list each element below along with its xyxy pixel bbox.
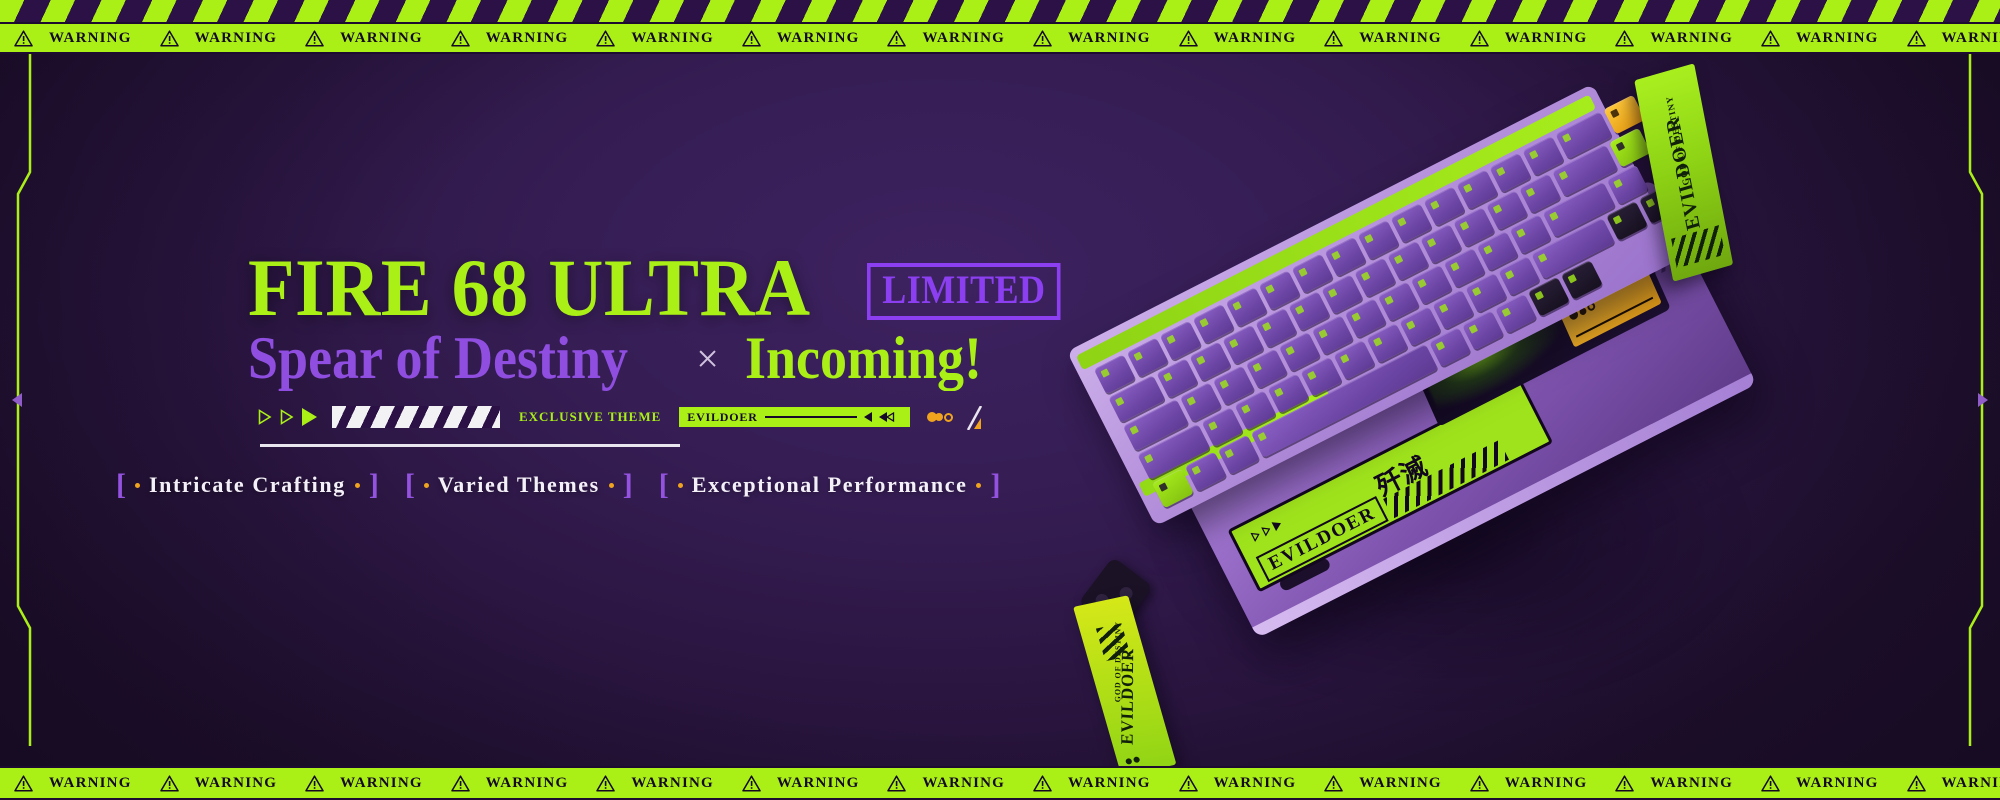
feature-tag-label: Intricate Crafting: [149, 472, 346, 498]
warning-label: WARNING: [1359, 30, 1442, 47]
bullet-dot-icon: [355, 483, 360, 488]
hatch-bar: [332, 406, 500, 428]
feature-tag: [ Varied Themes ]: [405, 470, 633, 500]
warning-triangle-icon: [742, 775, 761, 792]
feature-tag: [ Intricate Crafting ]: [116, 470, 379, 500]
warning-triangle-icon: [305, 775, 324, 792]
hero-banner-stage: WARNINGWARNINGWARNINGWARNINGWARNINGWARNI…: [0, 0, 2000, 800]
warning-label: WARNING: [631, 30, 714, 47]
strap-hatch-deco: [1096, 623, 1131, 661]
right-frame-rail: [1940, 54, 2000, 746]
panel-triangle-icons: [1250, 519, 1283, 542]
warning-text-strip-bottom: WARNINGWARNINGWARNINGWARNINGWARNINGWARNI…: [0, 766, 2000, 800]
warning-item: WARNING: [146, 30, 292, 47]
warning-item: WARNING: [1747, 30, 1893, 47]
theme-pill: EVILDOER: [679, 407, 909, 427]
warning-item: WARNING: [291, 30, 437, 47]
warning-label: WARNING: [1505, 775, 1588, 792]
page-title: FIRE 68 ULTRA: [248, 250, 811, 325]
warning-item: WARNING: [0, 775, 146, 792]
warning-item: WARNING: [1165, 775, 1311, 792]
warning-item: WARNING: [728, 30, 874, 47]
left-arrow-icon[interactable]: [12, 393, 22, 407]
bullet-dot-icon: [976, 483, 981, 488]
warning-item: WARNING: [582, 775, 728, 792]
warning-triangle-icon: [160, 30, 179, 47]
bottom-warning-banner: WARNINGWARNINGWARNINGWARNINGWARNINGWARNI…: [0, 766, 2000, 800]
bracket-close-icon: ]: [990, 470, 1000, 500]
warning-item: WARNING: [1456, 775, 1602, 792]
warning-label: WARNING: [1796, 775, 1879, 792]
bracket-open-icon: [: [116, 470, 126, 500]
exclusive-theme-label: EXCLUSIVE THEME: [519, 409, 661, 425]
warning-label: WARNING: [1650, 775, 1733, 792]
warning-label: WARNING: [631, 775, 714, 792]
warning-triangle-icon: [1033, 30, 1052, 47]
strap-dots-icon: [1125, 756, 1140, 765]
warning-label: WARNING: [1359, 775, 1442, 792]
warning-label: WARNING: [777, 30, 860, 47]
warning-label: WARNING: [1942, 30, 2000, 47]
warning-triangle-icon: [451, 30, 470, 47]
warning-item: WARNING: [1165, 30, 1311, 47]
top-warning-banner: WARNINGWARNINGWARNINGWARNINGWARNINGWARNI…: [0, 0, 2000, 54]
bracket-close-icon: ]: [369, 470, 379, 500]
warning-item: WARNING: [1456, 30, 1602, 47]
strap-main-label: EVILDOER: [1662, 113, 1706, 232]
warning-item: WARNING: [1310, 775, 1456, 792]
warning-triangle-icon: [1761, 30, 1780, 47]
warning-label: WARNING: [922, 775, 1005, 792]
warning-label: WARNING: [49, 775, 132, 792]
hazard-stripes-top: [0, 0, 2000, 22]
bracket-close-icon: ]: [623, 470, 633, 500]
warning-triangle-icon: [1615, 30, 1634, 47]
warning-item: WARNING: [1893, 775, 2000, 792]
play-triangle-filled-icon: [302, 408, 317, 426]
warning-label: WARNING: [1214, 775, 1297, 792]
warning-triangle-icon: [1324, 30, 1343, 47]
warning-triangle-icon: [1179, 30, 1198, 47]
bullet-dot-icon: [424, 483, 429, 488]
warning-item: WARNING: [0, 30, 146, 47]
feature-tag: [ Exceptional Performance ]: [659, 470, 1001, 500]
warning-triangle-icon: [1324, 775, 1343, 792]
warning-label: WARNING: [1650, 30, 1733, 47]
bracket-open-icon: [: [405, 470, 415, 500]
warning-item: WARNING: [146, 775, 292, 792]
warning-label: WARNING: [486, 775, 569, 792]
warning-label: WARNING: [49, 30, 132, 47]
warning-triangle-icon: [742, 30, 761, 47]
warning-triangle-icon: [1470, 775, 1489, 792]
decorative-theme-bar: EXCLUSIVE THEME EVILDOER: [258, 406, 1188, 428]
feature-tags-row: [ Intricate Crafting ] [ Varied Themes ]…: [116, 470, 1188, 500]
bullet-dot-icon: [678, 483, 683, 488]
warning-label: WARNING: [340, 30, 423, 47]
warning-item: WARNING: [1019, 30, 1165, 47]
warning-item: WARNING: [728, 775, 874, 792]
slash-end-icon: [966, 406, 982, 428]
strap-hatch-deco: [1671, 225, 1725, 268]
subtitle-row: Spear of Destiny × Incoming!: [248, 327, 1188, 390]
left-frame-rail: [0, 54, 60, 746]
warning-triangle-icon: [1761, 775, 1780, 792]
warning-item: WARNING: [1601, 30, 1747, 47]
warning-triangle-icon: [1907, 30, 1926, 47]
rewind-triangle-icon-1: [864, 412, 872, 422]
subtitle-right: Incoming!: [745, 327, 982, 390]
warning-label: WARNING: [1068, 30, 1151, 47]
bullet-dot-icon: [609, 483, 614, 488]
warning-item: WARNING: [873, 775, 1019, 792]
bracket-open-icon: [: [659, 470, 669, 500]
limited-badge: LIMITED: [867, 263, 1061, 320]
bullet-dot-icon: [135, 483, 140, 488]
strap-main-label: EVILDOER: [1117, 647, 1138, 745]
rewind-triangle-outline-icon: [894, 412, 902, 422]
subtitle-left: Spear of Destiny: [248, 327, 628, 390]
feature-tag-label: Exceptional Performance: [692, 472, 968, 498]
warning-triangle-icon: [14, 30, 33, 47]
cross-icon: ×: [696, 335, 719, 382]
theme-name-label: EVILDOER: [687, 410, 757, 425]
warning-triangle-icon: [887, 775, 906, 792]
warning-triangle-icon: [887, 30, 906, 47]
warning-item: WARNING: [1747, 775, 1893, 792]
warning-triangle-icon: [1615, 775, 1634, 792]
warning-triangle-icon: [596, 30, 615, 47]
warning-item: WARNING: [1893, 30, 2000, 47]
warning-label: WARNING: [1505, 30, 1588, 47]
warning-triangle-icon: [1470, 30, 1489, 47]
warning-triangle-icon: [451, 775, 470, 792]
orange-dots-icon: [927, 412, 953, 422]
warning-label: WARNING: [195, 775, 278, 792]
warning-label: WARNING: [486, 30, 569, 47]
warning-label: WARNING: [922, 30, 1005, 47]
warning-triangle-icon: [14, 775, 33, 792]
play-triangle-outline-icon-1: [258, 409, 271, 425]
warning-triangle-icon: [1033, 775, 1052, 792]
warning-label: WARNING: [1214, 30, 1297, 47]
play-triangle-outline-icon-2: [280, 409, 293, 425]
hero-copy-block: FIRE 68 ULTRA LIMITED Spear of Destiny ×…: [248, 250, 1188, 500]
warning-triangle-icon: [1179, 775, 1198, 792]
warning-label: WARNING: [1796, 30, 1879, 47]
warning-item: WARNING: [291, 775, 437, 792]
right-arrow-icon[interactable]: [1978, 393, 1988, 407]
feature-tag-label: Varied Themes: [438, 472, 600, 498]
warning-item: WARNING: [437, 30, 583, 47]
warning-label: WARNING: [1068, 775, 1151, 792]
pill-divider-line: [765, 416, 857, 418]
warning-item: WARNING: [437, 775, 583, 792]
warning-triangle-icon: [305, 30, 324, 47]
warning-label: WARNING: [340, 775, 423, 792]
title-row: FIRE 68 ULTRA LIMITED: [248, 250, 1188, 325]
warning-item: WARNING: [582, 30, 728, 47]
warning-triangle-icon: [596, 775, 615, 792]
warning-text-strip-top: WARNINGWARNINGWARNINGWARNINGWARNINGWARNI…: [0, 22, 2000, 54]
warning-triangle-icon: [1907, 775, 1926, 792]
warning-item: WARNING: [1310, 30, 1456, 47]
warning-item: WARNING: [1019, 775, 1165, 792]
warning-label: WARNING: [195, 30, 278, 47]
warning-label: WARNING: [777, 775, 860, 792]
warning-item: WARNING: [1601, 775, 1747, 792]
warning-label: WARNING: [1942, 775, 2000, 792]
warning-triangle-icon: [160, 775, 179, 792]
warning-item: WARNING: [873, 30, 1019, 47]
